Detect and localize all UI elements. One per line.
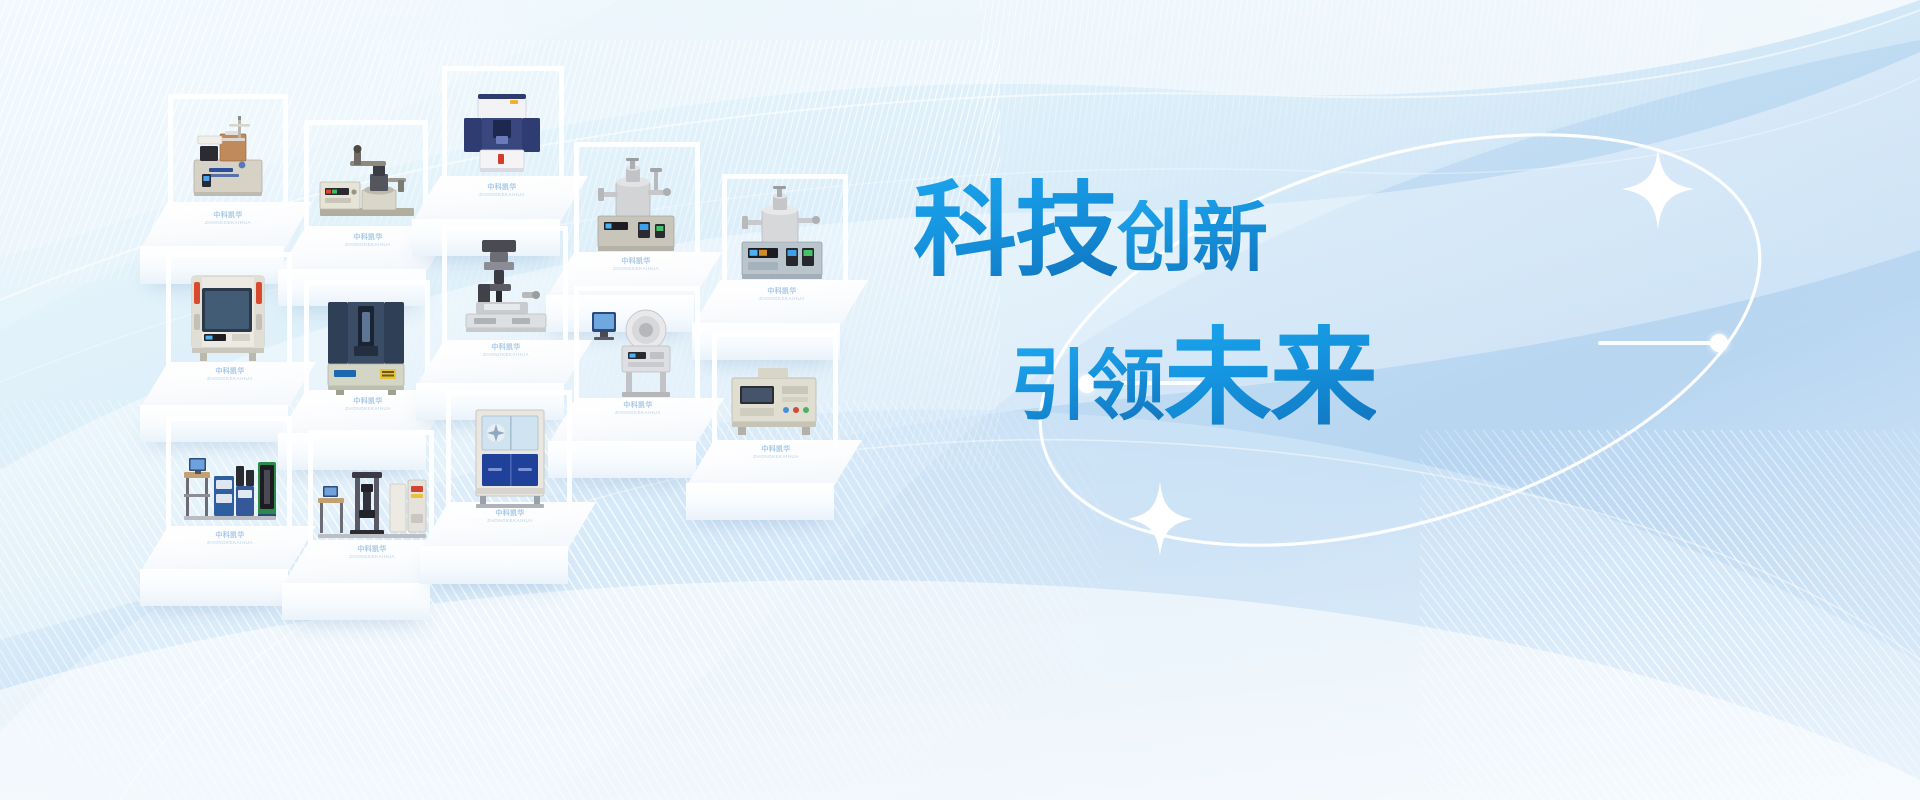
product-watermark: 中科凯华 ZHONGKEKAIHUA: [613, 258, 659, 271]
product-photo-reciprocating-friction-tester: [582, 298, 690, 402]
product-photo-universal-testing-machine: [312, 450, 428, 544]
headline-line2-primary: 未来: [1164, 324, 1376, 432]
headline-line1-primary: 科技: [913, 178, 1117, 282]
product-watermark: 中科凯华 ZHONGKEKAIHUA: [753, 446, 799, 459]
hero-banner: 中科凯华 ZHONGKEKAIHUA: [0, 0, 1920, 800]
product-photo-vacuum-test-chamber: [174, 264, 282, 368]
hatch-texture-top-right: [980, 0, 1700, 190]
sparkle-icon-top: [1622, 148, 1694, 230]
product-photo-lab-workstation-rack: [172, 432, 284, 530]
product-photo-vacuum-coating-chamber: [582, 154, 690, 258]
headline-line-2: 引领 未来: [1010, 324, 1425, 432]
product-watermark: 中科凯华 ZHONGKEKAIHUA: [479, 184, 525, 197]
headline-block: 科技 创新 引领 未来: [905, 178, 1425, 432]
product-watermark: 中科凯华 ZHONGKEKAIHUA: [345, 234, 391, 247]
product-watermark: 中科凯华 ZHONGKEKAIHUA: [207, 532, 253, 545]
product-watermark: 中科凯华 ZHONGKEKAIHUA: [349, 546, 395, 559]
product-photo-friction-wear-tester: [312, 290, 420, 396]
product-watermark: 中科凯华 ZHONGKEKAIHUA: [207, 368, 253, 381]
product-photo-nano-indenter: [452, 78, 552, 182]
product-watermark: 中科凯华 ZHONGKEKAIHUA: [615, 402, 661, 415]
product-watermark: 中科凯华 ZHONGKEKAIHUA: [487, 510, 533, 523]
hatch-texture-bottom-right: [1420, 430, 1920, 800]
product-photo-scratch-tester: [310, 134, 422, 232]
sparkle-icon-bottom: [1128, 482, 1192, 556]
product-photo-magnetron-sputtering-system: [728, 184, 836, 286]
product-watermark: 中科凯华 ZHONGKEKAIHUA: [205, 212, 251, 225]
product-photo-coating-thickness-tester: [176, 110, 280, 210]
product-watermark: 中科凯华 ZHONGKEKAIHUA: [483, 344, 529, 357]
product-watermark: 中科凯华 ZHONGKEKAIHUA: [759, 288, 805, 301]
product-card-bench-control-console[interactable]: 中科凯华 ZHONGKEKAIHUA: [686, 330, 866, 520]
headline-line2-secondary: 引领: [1010, 347, 1164, 425]
headline-line1-secondary: 创新: [1117, 200, 1267, 276]
product-photo-bench-control-console: [718, 348, 830, 446]
product-photo-optical-microscope-stage: [454, 234, 558, 344]
headline-line-1: 科技 创新: [913, 178, 1425, 282]
orbit-connector-right: [1598, 341, 1716, 345]
product-photo-cabinet-test-system: [458, 400, 562, 510]
product-watermark: 中科凯华 ZHONGKEKAIHUA: [345, 398, 391, 411]
product-card-cabinet-test-system[interactable]: 中科凯华 ZHONGKEKAIHUA: [420, 388, 600, 584]
